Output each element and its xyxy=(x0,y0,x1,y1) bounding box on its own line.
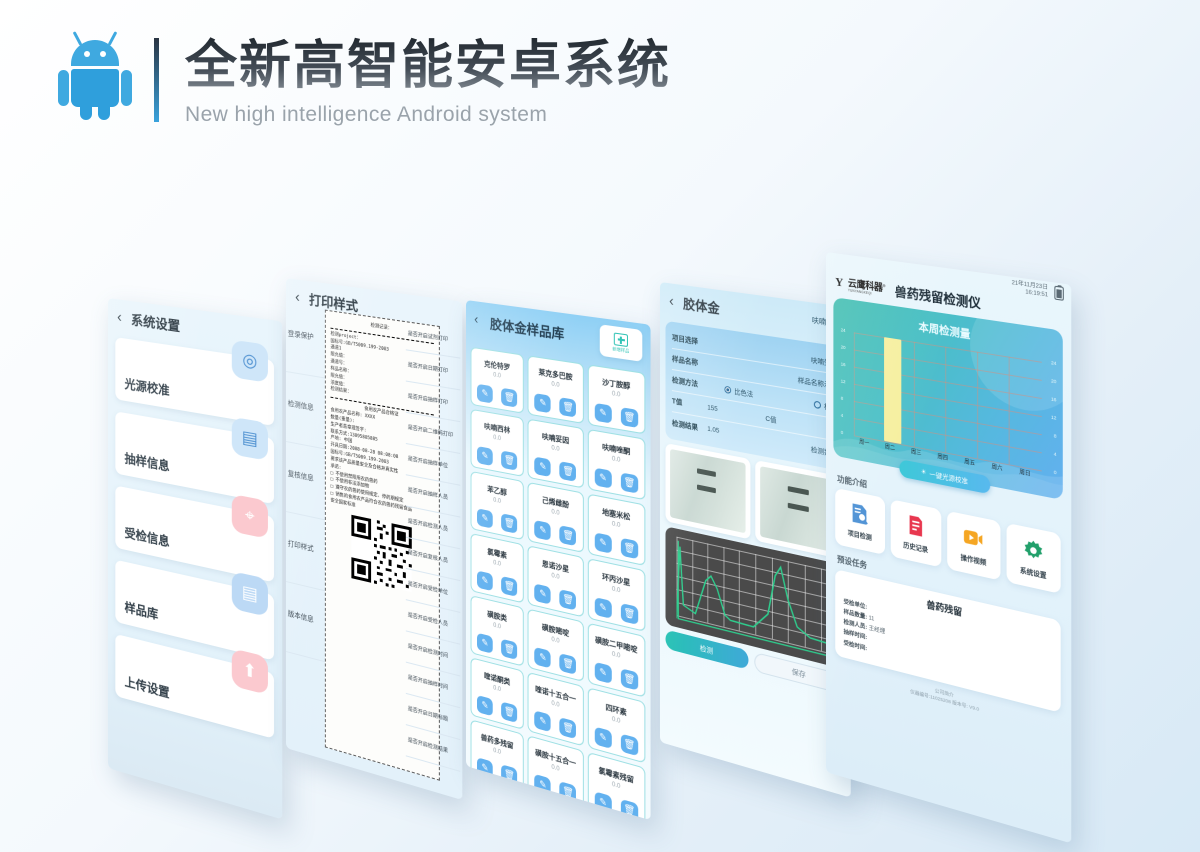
x-axis-tick: 周四 xyxy=(937,452,948,462)
sample-card[interactable]: 四环素0.0✎🗑 xyxy=(587,687,645,763)
y-axis-tick: 0 xyxy=(841,430,843,435)
sample-value: 0.0 xyxy=(493,623,501,631)
library-title: 胶体金样品库 xyxy=(490,313,564,343)
gear-icon xyxy=(1022,537,1045,565)
sample-card[interactable]: 磺胺二甲嘧啶0.0✎🗑 xyxy=(587,623,645,698)
delete-icon[interactable]: 🗑 xyxy=(501,513,517,534)
qr-code xyxy=(351,514,411,591)
sample-name: 克伦特罗 xyxy=(484,359,510,373)
edit-icon[interactable]: ✎ xyxy=(595,662,612,684)
chart-bar xyxy=(884,337,901,444)
result-value: 1.05 xyxy=(707,426,771,445)
delete-icon[interactable]: 🗑 xyxy=(501,388,517,408)
sample-value: 0.0 xyxy=(612,521,620,529)
clear-test-label: 清空检测 xyxy=(757,282,777,284)
task-field-value: 11 xyxy=(869,615,875,622)
y-axis-tick: 4 xyxy=(841,413,843,418)
function-operation-video[interactable]: 操作视频 xyxy=(947,511,1000,581)
sample-value: 0.0 xyxy=(493,372,501,379)
delete-icon[interactable]: 🗑 xyxy=(621,603,638,625)
y-axis-tick: 20 xyxy=(841,344,846,350)
delete-icon[interactable]: 🗑 xyxy=(501,576,517,597)
sample-name: 磺胺类 xyxy=(487,609,507,624)
sample-value: 0.0 xyxy=(493,685,501,693)
y-axis-tick: 12 xyxy=(841,378,846,384)
sample-card[interactable]: 呋喃妥因0.0✎🗑 xyxy=(528,419,584,489)
sample-value: 0.0 xyxy=(493,560,501,568)
delete-icon[interactable]: 🗑 xyxy=(560,717,577,739)
sample-card[interactable]: 己烯雌酚0.0✎🗑 xyxy=(528,482,584,553)
back-icon[interactable]: ‹ xyxy=(669,292,674,310)
sample-value: 0.0 xyxy=(551,381,559,388)
x-axis-tick: 周五 xyxy=(964,457,975,467)
grid-line xyxy=(945,347,946,453)
sample-card[interactable]: 莱克多巴胺0.0✎🗑 xyxy=(528,355,584,424)
sample-card[interactable]: 磺胺嘧啶0.0✎🗑 xyxy=(528,609,584,682)
sample-value: 0.0 xyxy=(551,573,559,581)
delete-icon[interactable]: 🗑 xyxy=(560,525,577,546)
c-label: C值 xyxy=(749,409,792,427)
y-axis-tick: 8 xyxy=(841,396,843,401)
sample-name: 氯霉素 xyxy=(487,547,507,561)
function-history[interactable]: 历史记录 xyxy=(890,499,941,567)
sample-value: 0.0 xyxy=(612,586,620,594)
task-field-value: 王经理 xyxy=(869,626,886,636)
grid-line xyxy=(854,332,855,435)
sample-name: 环丙沙星 xyxy=(602,572,630,589)
screen-sample-library[interactable]: ‹ 胶体金样品库 新增样品 克伦特罗0.0✎🗑莱克多巴胺0.0✎🗑沙丁胺醇0.0… xyxy=(466,300,651,820)
form-icon: ▤ xyxy=(232,417,268,461)
y-axis-tick: 0 xyxy=(1054,469,1057,475)
sample-card[interactable]: 氯霉素残留0.0✎🗑 xyxy=(587,752,645,821)
grid-line xyxy=(854,367,1042,399)
edit-icon[interactable]: ✎ xyxy=(477,633,493,654)
y-axis-tick: 12 xyxy=(1051,414,1056,420)
settings-item-label: 抽样信息 xyxy=(125,449,170,475)
settings-item-label: 上传设置 xyxy=(125,672,170,701)
delete-icon[interactable]: 🗑 xyxy=(501,764,517,786)
radio-colorimetric[interactable] xyxy=(725,386,732,394)
sample-name: 莱克多巴胺 xyxy=(539,367,573,383)
back-icon[interactable]: ‹ xyxy=(117,308,122,326)
screen-main-dashboard[interactable]: 21年11月23日 16:19:51 Y 云鹰科器® YUNYANGKEQI 兽… xyxy=(826,252,1071,843)
grid-line xyxy=(854,384,1042,417)
edit-icon[interactable]: ✎ xyxy=(595,597,612,619)
sample-value: 0.0 xyxy=(612,782,620,791)
sidebar-item-light-calibration[interactable]: 光源校准 ◎ xyxy=(115,337,274,426)
sample-name: 喹诺酮类 xyxy=(484,671,510,688)
sample-name: 沙丁胺醇 xyxy=(602,377,630,392)
screen-colloidal-gold-test[interactable]: ‹ 胶体金 呋喃受剂 项目选择 呋喃受剂 样品名称 样品名称示例 检测方法 比色… xyxy=(660,282,851,798)
edit-icon[interactable]: ✎ xyxy=(595,532,612,553)
delete-icon[interactable]: 🗑 xyxy=(621,472,638,493)
delete-icon[interactable]: 🗑 xyxy=(560,461,577,482)
sample-name: 四环素 xyxy=(606,702,627,718)
test-title: 胶体金 xyxy=(683,293,720,317)
y-axis-tick: 24 xyxy=(1051,360,1056,366)
calibration-label: 一键光源校准 xyxy=(929,468,968,486)
x-axis-tick: 周一 xyxy=(859,437,869,447)
sample-value: 0.0 xyxy=(551,637,559,645)
poster-stage: 全新高智能安卓系统 New high intelligence Android … xyxy=(0,0,1200,852)
field-label: T值 xyxy=(672,396,707,412)
function-label: 项目检测 xyxy=(848,528,872,542)
edit-icon[interactable]: ✎ xyxy=(595,403,612,424)
sample-name: 呋喃西林 xyxy=(484,421,510,436)
grid-line xyxy=(1009,357,1010,465)
sample-value: 0.0 xyxy=(551,764,559,773)
sample-value: 0.0 xyxy=(612,391,620,399)
print-options-list: 是否开启试剂打印是否开启日期打印是否开启抽样打印是否开启二维码打印是否开启抽样单… xyxy=(406,319,460,772)
edit-icon[interactable]: ✎ xyxy=(535,393,551,413)
edit-icon[interactable]: ✎ xyxy=(535,710,551,732)
sample-value: 0.0 xyxy=(612,651,620,659)
sample-card[interactable]: 地塞米松0.0✎🗑 xyxy=(587,493,645,566)
edit-icon[interactable]: ✎ xyxy=(477,508,493,528)
sample-card[interactable]: 喹诺酮类0.0✎🗑 xyxy=(471,657,524,730)
sample-card[interactable]: 呋喃唑酮0.0✎🗑 xyxy=(587,429,645,500)
sun-icon: ☀ xyxy=(921,468,927,477)
y-axis-tick: 16 xyxy=(1051,396,1056,402)
y-axis-tick: 8 xyxy=(1054,433,1057,439)
logo-icon: Y xyxy=(835,274,843,290)
screen-system-settings[interactable]: ‹ 系统设置 光源校准 ◎ 抽样信息 ▤ 受检信息 ⌖ 样品库 ▤ xyxy=(108,298,282,819)
sample-card[interactable]: 沙丁胺醇0.0✎🗑 xyxy=(587,364,645,434)
edit-icon[interactable]: ✎ xyxy=(477,571,493,592)
delete-icon[interactable]: 🗑 xyxy=(560,397,577,417)
delete-icon[interactable]: 🗑 xyxy=(621,407,638,428)
delete-icon[interactable]: 🗑 xyxy=(501,450,517,470)
edit-icon[interactable]: ✎ xyxy=(535,520,551,541)
video-icon xyxy=(962,524,984,552)
plus-icon xyxy=(614,332,628,347)
grid-line xyxy=(914,342,915,447)
edit-icon[interactable]: ✎ xyxy=(477,695,493,716)
x-axis-tick: 周三 xyxy=(911,447,921,457)
y-axis-tick: 24 xyxy=(841,327,846,333)
settings-item-label: 光源校准 xyxy=(125,375,170,400)
function-label: 操作视频 xyxy=(961,552,987,567)
clear-test-button[interactable]: 🗑 清空检测 xyxy=(757,282,777,298)
delete-icon[interactable]: 🗑 xyxy=(621,734,638,757)
sample-card[interactable]: 克伦特罗0.0✎🗑 xyxy=(471,347,524,414)
sample-name: 呋喃唑酮 xyxy=(602,442,630,458)
edit-icon[interactable]: ✎ xyxy=(477,446,493,466)
edit-icon[interactable]: ✎ xyxy=(535,774,551,796)
records-icon xyxy=(905,512,926,539)
delete-icon[interactable]: 🗑 xyxy=(501,639,517,660)
edit-icon[interactable]: ✎ xyxy=(477,384,493,404)
option-colorimetric-label: 比色法 xyxy=(734,388,753,398)
print-icon: 🖶 xyxy=(794,282,805,288)
sample-card[interactable]: 恩诺沙星0.0✎🗑 xyxy=(528,545,584,617)
battery-icon xyxy=(1054,286,1063,301)
sample-card[interactable]: 呋喃西林0.0✎🗑 xyxy=(471,409,524,477)
delete-icon[interactable]: 🗑 xyxy=(560,781,577,803)
y-axis-tick: 16 xyxy=(841,361,846,367)
delete-icon[interactable]: 🗑 xyxy=(560,653,577,675)
sample-value: 0.0 xyxy=(551,445,559,453)
sample-grid: 克伦特罗0.0✎🗑莱克多巴胺0.0✎🗑沙丁胺醇0.0✎🗑呋喃西林0.0✎🗑呋喃妥… xyxy=(466,346,651,820)
delete-icon[interactable]: 🗑 xyxy=(621,668,638,690)
sample-name: 苯乙醇 xyxy=(487,484,507,498)
edit-icon[interactable]: ✎ xyxy=(477,757,493,779)
x-axis-tick: 周二 xyxy=(885,442,895,452)
sample-value: 0.0 xyxy=(493,435,501,442)
screen-print-style[interactable]: ‹ 打印样式 登录保护 检测信息 复核信息 打印样式 版本信息 检测记录： 检测… xyxy=(286,278,462,800)
sample-name: 己烯雌酚 xyxy=(542,495,569,511)
sample-card[interactable]: 喹诺十五合一0.0✎🗑 xyxy=(528,672,584,747)
delete-icon[interactable]: 🗑 xyxy=(621,799,638,820)
edit-icon[interactable]: ✎ xyxy=(535,584,551,605)
sample-card[interactable]: 磺胺类0.0✎🗑 xyxy=(471,595,524,667)
field-label: 检测结果 xyxy=(672,418,707,435)
sample-value: 0.0 xyxy=(551,509,559,517)
edit-icon[interactable]: ✎ xyxy=(535,647,551,669)
device-stack: ‹ 系统设置 光源校准 ◎ 抽样信息 ▤ 受检信息 ⌖ 样品库 ▤ xyxy=(0,0,1200,852)
sample-name: 磺胺嘧啶 xyxy=(542,622,569,639)
print-label: 打印 xyxy=(795,287,805,296)
sample-name: 地塞米松 xyxy=(602,507,630,523)
field-label: 项目选择 xyxy=(672,333,707,349)
sample-value: 0.0 xyxy=(612,456,620,464)
delete-icon[interactable]: 🗑 xyxy=(560,589,577,610)
sample-card[interactable]: 兽药多残留0.0✎🗑 xyxy=(471,719,524,793)
sample-card[interactable]: 磺胺十五合一0.0✎🗑 xyxy=(528,735,584,811)
sample-value: 0.0 xyxy=(551,701,559,709)
sample-name: 呋喃妥因 xyxy=(542,431,569,446)
add-sample-button[interactable]: 新增样品 xyxy=(600,324,643,362)
grid-line xyxy=(854,401,1042,435)
grid-line xyxy=(977,352,978,459)
edit-icon[interactable]: ✎ xyxy=(535,457,551,478)
settings-item-label: 受检信息 xyxy=(125,523,170,550)
strip-image-1 xyxy=(665,443,749,539)
function-project-test[interactable]: 项目检测 xyxy=(835,488,884,555)
target-icon: ◎ xyxy=(232,340,268,383)
sample-card[interactable]: 氯霉素0.0✎🗑 xyxy=(471,533,524,604)
document-search-icon xyxy=(849,501,870,528)
back-icon[interactable]: ‹ xyxy=(474,311,478,327)
function-label: 系统设置 xyxy=(1020,565,1047,580)
radio-standard[interactable] xyxy=(814,401,821,410)
edit-icon[interactable]: ✎ xyxy=(595,468,612,489)
shield-search-icon: ⌖ xyxy=(232,494,268,539)
sample-card[interactable]: 环丙沙星0.0✎🗑 xyxy=(587,558,645,632)
y-axis-tick: 20 xyxy=(1051,378,1056,384)
sample-value: 0.0 xyxy=(493,748,501,756)
sample-value: 0.0 xyxy=(612,717,620,726)
function-system-settings[interactable]: 系统设置 xyxy=(1006,523,1061,594)
field-label: 样品名称 xyxy=(672,354,707,370)
t-value: 155 xyxy=(707,404,749,419)
settings-list: 光源校准 ◎ 抽样信息 ▤ 受检信息 ⌖ 样品库 ▤ 上传设置 ⬆ xyxy=(108,332,282,741)
sample-card[interactable]: 苯乙醇0.0✎🗑 xyxy=(471,471,524,540)
settings-title: 系统设置 xyxy=(131,309,180,335)
field-label: 检测方法 xyxy=(672,375,707,391)
add-sample-label: 新增样品 xyxy=(612,345,629,354)
sample-name: 恩诺沙星 xyxy=(542,558,569,574)
sample-value: 0.0 xyxy=(493,497,501,505)
function-label: 历史记录 xyxy=(903,540,928,555)
delete-icon[interactable]: 🗑 xyxy=(621,538,638,560)
settings-item-label: 样品库 xyxy=(125,598,159,623)
edit-icon[interactable]: ✎ xyxy=(595,791,612,814)
delete-icon[interactable]: 🗑 xyxy=(501,701,517,723)
print-button[interactable]: 🖶 打印 xyxy=(794,282,805,302)
y-axis-tick: 4 xyxy=(1054,451,1057,457)
edit-icon[interactable]: ✎ xyxy=(595,727,612,749)
